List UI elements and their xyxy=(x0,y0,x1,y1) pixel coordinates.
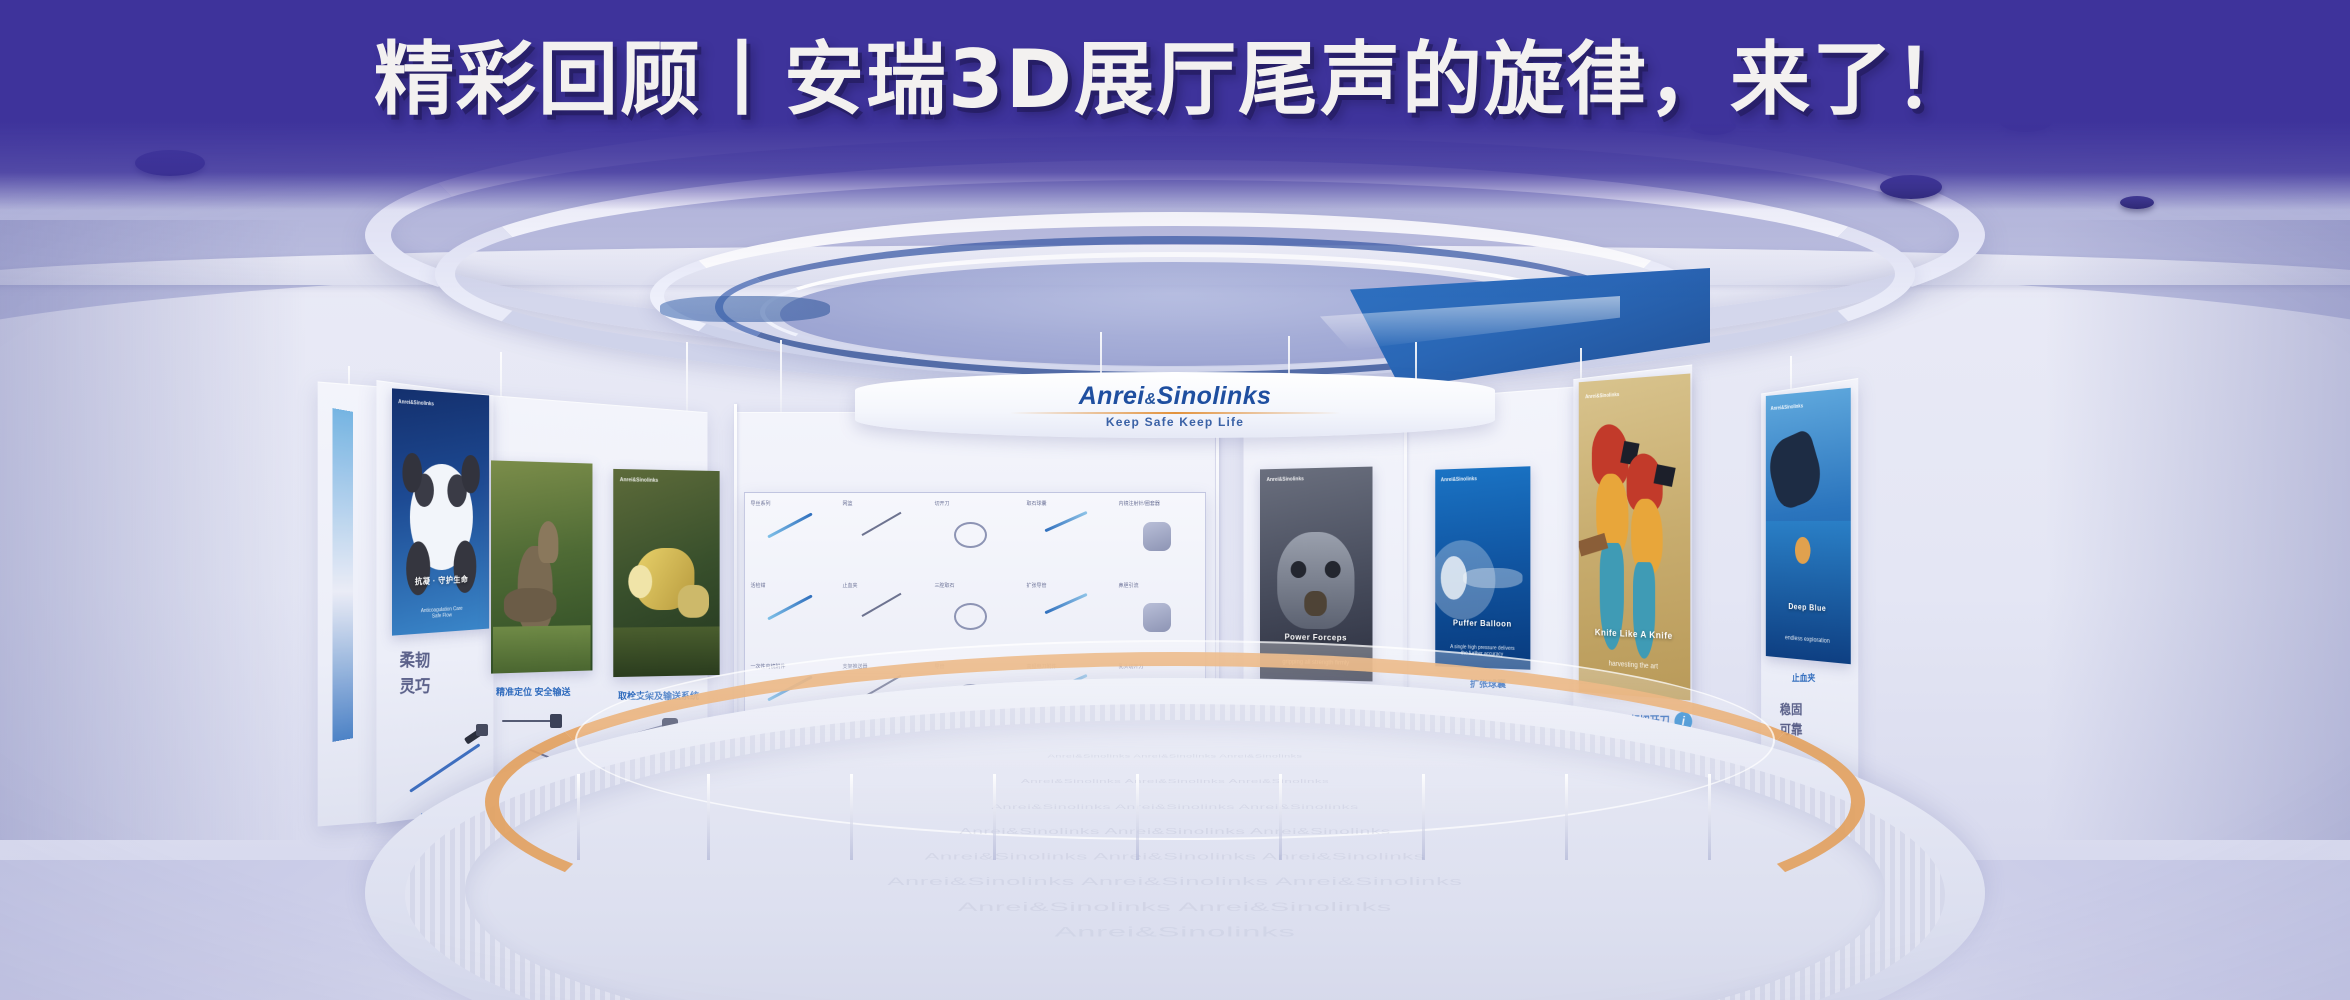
ceiling-spotlight xyxy=(2000,112,2052,132)
poster-title: Knife Like A Knife xyxy=(1587,627,1681,641)
product-label: 取石球囊 xyxy=(1027,500,1047,507)
device-icon xyxy=(1143,603,1171,632)
product-cell: 取石球囊 xyxy=(1027,500,1110,567)
side-banner-far-left xyxy=(333,408,353,742)
stage-railing xyxy=(525,740,1825,860)
device-icon xyxy=(768,594,813,620)
product-cell: 三腔取石 xyxy=(935,582,1018,649)
exhibition-hall-scene: Anrei&Sinolinks 抗凝 · 守护生命 Anticoagulatio… xyxy=(0,0,2350,1000)
product-label: 止血夹 xyxy=(843,582,858,589)
poster-caption-panda: 柔韧 灵巧 xyxy=(400,648,431,699)
poster-logo: Anrei&Sinolinks xyxy=(398,399,434,407)
product-cell: 导丝系列 xyxy=(751,500,834,567)
product-label: 三腔取石 xyxy=(935,582,955,589)
product-cell: 止血夹 xyxy=(843,582,926,649)
poster-caption-ocean-sub: 止血夹 xyxy=(1792,672,1815,686)
product-label: 活检钳 xyxy=(751,582,766,589)
device-icon xyxy=(1044,592,1088,614)
product-cell: 扩张导管 xyxy=(1027,582,1110,649)
brand-header-band: Anrei&Sinolinks Keep Safe Keep Life xyxy=(855,372,1495,438)
product-cell: 活检钳 xyxy=(751,582,834,649)
device-icon xyxy=(954,603,987,630)
brand-ampersand: & xyxy=(1145,391,1157,408)
product-cell: 切开刀 xyxy=(935,500,1018,567)
exhibition-banner-image: Anrei&Sinolinks 抗凝 · 守护生命 Anticoagulatio… xyxy=(0,0,2350,1000)
poster-ocean: Anrei&Sinolinks Deep Blue endless explor… xyxy=(1766,388,1851,664)
poster-logo: Anrei&Sinolinks xyxy=(1585,392,1619,400)
device-icon xyxy=(1044,511,1088,533)
poster-logo: Anrei&Sinolinks xyxy=(620,477,658,484)
product-label: 内镜注射针/圈套器 xyxy=(1119,500,1160,507)
product-label: 网篮 xyxy=(843,500,853,507)
floor-text-row: Anrei&Sinolinks Anrei&Sinolinks Anrei&Si… xyxy=(887,876,1462,889)
product-label: 鼻胆引流 xyxy=(1119,582,1139,589)
brand-name-left: Anrei xyxy=(1079,382,1145,410)
poster-panda: Anrei&Sinolinks 抗凝 · 守护生命 Anticoagulatio… xyxy=(392,388,489,635)
floor-text-row: Anrei&Sinolinks xyxy=(1054,924,1295,940)
ceiling-spotlight xyxy=(1690,118,1736,135)
brand-name: Anrei&Sinolinks xyxy=(1079,382,1272,411)
brand-name-right: Sinolinks xyxy=(1157,382,1272,410)
poster-logo: Anrei&Sinolinks xyxy=(1267,477,1304,484)
device-icon xyxy=(1143,522,1171,551)
ceiling-spotlight xyxy=(2120,196,2154,209)
brand-rule xyxy=(1010,412,1340,414)
product-cell: 内镜注射针/圈套器 xyxy=(1119,500,1202,567)
ceiling-spotlight xyxy=(1880,175,1942,199)
wall-shadow-left xyxy=(0,220,306,840)
product-label: 导丝系列 xyxy=(751,500,771,507)
ceiling-spotlight xyxy=(135,150,205,176)
product-label: 切开刀 xyxy=(935,500,950,507)
product-cell: 鼻胆引流 xyxy=(1119,582,1202,649)
poster-caption-kangaroo: 精准定位 安全输送 xyxy=(496,686,571,700)
poster-bird: Anrei&Sinolinks Knife Like A Knife harve… xyxy=(1579,373,1691,700)
poster-frog: Anrei&Sinolinks xyxy=(613,469,719,677)
poster-balloon: Anrei&Sinolinks Puffer Balloon A single … xyxy=(1435,466,1530,669)
poster-title: Puffer Balloon xyxy=(1443,618,1523,629)
device-icon xyxy=(768,513,813,539)
device-icon xyxy=(862,593,902,617)
floor-text-row: Anrei&Sinolinks Anrei&Sinolinks xyxy=(958,900,1392,914)
poster-subtitle: Anticoagulation Care Safe Flow xyxy=(400,604,482,623)
product-label: 扩张导管 xyxy=(1027,582,1047,589)
device-icon xyxy=(954,522,987,549)
device-icon xyxy=(862,512,902,536)
ceiling-blue-accent-left xyxy=(660,296,830,322)
poster-logo: Anrei&Sinolinks xyxy=(1441,476,1477,483)
brand-tagline: Keep Safe Keep Life xyxy=(1106,415,1244,429)
poster-kangaroo xyxy=(491,460,592,673)
wall-shadow-right xyxy=(2045,220,2350,840)
product-cell: 网篮 xyxy=(843,500,926,567)
poster-logo: Anrei&Sinolinks xyxy=(1771,403,1803,412)
